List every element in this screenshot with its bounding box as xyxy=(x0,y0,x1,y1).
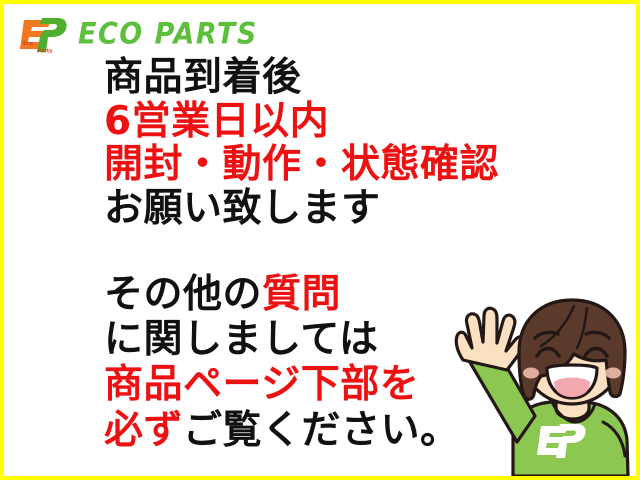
notice-line-8-part-2: ご覧ください。 xyxy=(183,408,460,453)
notice-block-secondary: その他の質問 に関しましては 商品ページ下部を 必ずご覧ください。 xyxy=(104,272,574,453)
svg-text:Parts: Parts xyxy=(37,49,52,55)
notice-line-8-part-1: 必ず xyxy=(104,408,183,453)
notice-line-3: 開封・動作・状態確認 xyxy=(104,143,574,187)
notice-line-1: 商品到着後 xyxy=(104,56,574,100)
notice-line-7: 商品ページ下部を xyxy=(104,362,574,407)
notice-line-4: お願い致します xyxy=(104,187,574,231)
notice-line-5-part-2: 質問 xyxy=(262,272,341,317)
notice-line-5-part-1: その他の xyxy=(104,272,262,317)
notice-line-8: 必ずご覧ください。 xyxy=(104,408,574,453)
notice-line-7-part-1: 商品ページ下部を xyxy=(104,362,419,407)
ecoparts-ep-monogram-icon: Eco Parts xyxy=(18,14,70,54)
notice-block-primary: 商品到着後 6営業日以内 開封・動作・状態確認 お願い致します xyxy=(104,56,574,231)
notice-line-5: その他の質問 xyxy=(104,272,574,317)
notice-line-6-part-1: に関しましては xyxy=(104,317,379,362)
brand-header: Eco Parts ECO PARTS xyxy=(18,14,258,54)
notice-banner: Eco Parts ECO PARTS 商品到着後 6営業日以内 開封・動作・状… xyxy=(0,0,640,480)
notice-line-2: 6営業日以内 xyxy=(104,100,574,144)
notice-line-6: に関しましては xyxy=(104,317,574,362)
svg-text:Eco: Eco xyxy=(23,41,34,47)
brand-wordmark: ECO PARTS xyxy=(78,19,258,48)
